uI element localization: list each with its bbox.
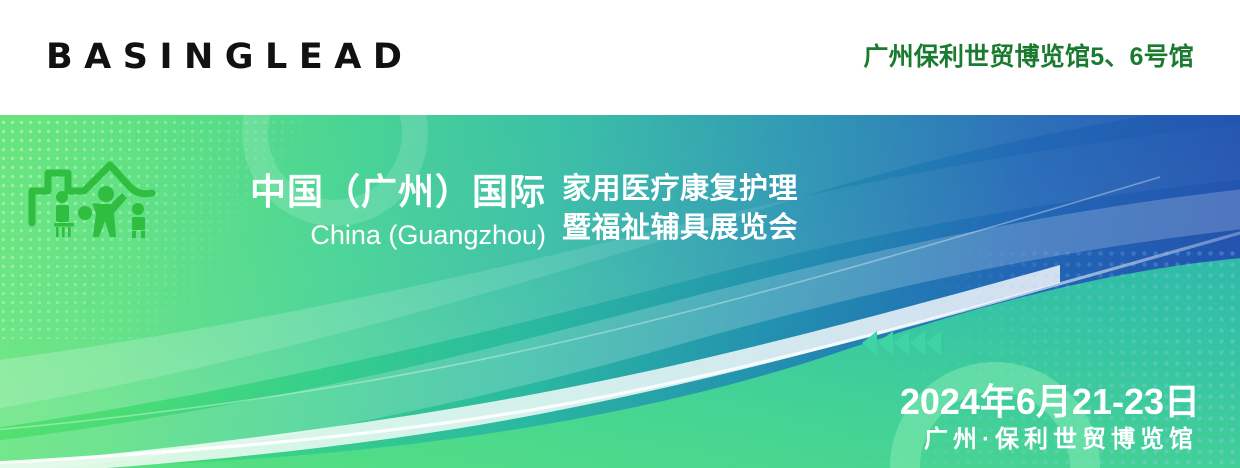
header-venue-note: 广州保利世贸博览馆5、6号馆 [863, 40, 1194, 74]
left-arrow-icon [926, 331, 941, 355]
exhibition-banner-page: BASINGLEAD 广州保利世贸博览馆5、6号馆 [0, 0, 1240, 468]
page-header: BASINGLEAD 广州保利世贸博览馆5、6号馆 [0, 0, 1240, 115]
title-chinese-sub-line-2: 暨福祉辅具展览会 [562, 209, 798, 248]
title-english-subtitle: China (Guangzhou) [310, 218, 546, 252]
title-right-column: 家用医疗康复护理 暨福祉辅具展览会 [562, 167, 798, 248]
brand-logo[interactable]: BASINGLEAD [46, 36, 413, 78]
event-date-block: 2024年6月21-23日 广州·保利世贸博览馆 [900, 380, 1200, 456]
left-arrow-icon [910, 331, 925, 355]
left-arrow-icon [878, 331, 893, 355]
event-banner: 中国（广州）国际 China (Guangzhou) 家用医疗康复护理 暨福祉辅… [0, 115, 1240, 468]
title-chinese-sub-line-1: 家用医疗康复护理 [562, 170, 798, 209]
title-chinese-main: 中国（广州）国际 [250, 169, 546, 215]
left-arrow-icon [862, 331, 877, 355]
banner-title-block: 中国（广州）国际 China (Guangzhou) 家用医疗康复护理 暨福祉辅… [250, 167, 798, 252]
event-logo-mark [10, 151, 162, 247]
event-date: 2024年6月21-23日 [900, 380, 1200, 424]
title-left-column: 中国（广州）国际 China (Guangzhou) [250, 167, 546, 252]
left-chevron-arrows [862, 331, 941, 355]
event-venue: 广州·保利世贸博览馆 [900, 424, 1200, 456]
left-arrow-icon [894, 331, 909, 355]
